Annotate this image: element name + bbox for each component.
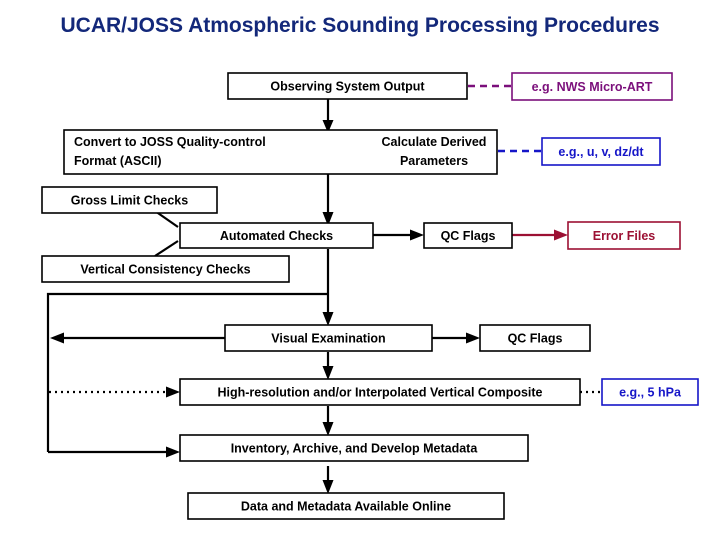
node-label: QC Flags: [508, 332, 563, 346]
arrowhead-rail-to-inventory: [166, 447, 180, 458]
node-label: Automated Checks: [220, 229, 333, 243]
flowchart-svg: Observing System Output Convert to JOSS …: [0, 0, 720, 540]
node-data-metadata-online[interactable]: Data and Metadata Available Online: [188, 493, 504, 519]
node-inventory-archive[interactable]: Inventory, Archive, and Develop Metadata: [180, 435, 528, 461]
node-qc-flags-top[interactable]: QC Flags: [424, 223, 512, 248]
calculate-label-line2: Parameters: [400, 154, 468, 168]
note-label: e.g. NWS Micro-ART: [532, 80, 653, 94]
arrowhead-inventory-to-online: [323, 480, 334, 494]
node-label: QC Flags: [441, 229, 496, 243]
arrowhead-composite-to-inventory: [323, 422, 334, 436]
arrowhead-visual-to-qcflags-mid: [466, 333, 480, 344]
arrowhead-visual-to-composite: [323, 366, 334, 380]
arrowhead-automated-to-qcflags: [410, 230, 424, 241]
node-high-resolution-composite[interactable]: High-resolution and/or Interpolated Vert…: [180, 379, 580, 405]
node-qc-flags-mid[interactable]: QC Flags: [480, 325, 590, 351]
node-visual-examination[interactable]: Visual Examination: [225, 325, 432, 351]
node-gross-limit-checks[interactable]: Gross Limit Checks: [42, 187, 217, 213]
convert-label-line2: Format (ASCII): [74, 154, 162, 168]
node-vertical-consistency-checks[interactable]: Vertical Consistency Checks: [42, 256, 289, 282]
node-label: Observing System Output: [270, 80, 425, 94]
node-label: Visual Examination: [271, 332, 385, 346]
convert-label-line1: Convert to JOSS Quality-control: [74, 135, 266, 149]
note-derived-params[interactable]: e.g., u, v, dz/dt: [542, 138, 660, 165]
note-nws-micro-art[interactable]: e.g. NWS Micro-ART: [512, 73, 672, 100]
calculate-label-line1: Calculate Derived: [382, 135, 487, 149]
node-label: Inventory, Archive, and Develop Metadata: [231, 442, 479, 456]
arrowhead-rail-to-composite: [166, 387, 180, 398]
node-label: Vertical Consistency Checks: [80, 263, 250, 277]
node-automated-checks[interactable]: Automated Checks: [180, 223, 373, 248]
note-label: e.g., 5 hPa: [619, 386, 682, 400]
node-convert-and-calculate[interactable]: Convert to JOSS Quality-control Format (…: [64, 130, 497, 174]
arrowhead-automated-to-visual: [323, 312, 334, 326]
node-error-files[interactable]: Error Files: [568, 222, 680, 249]
note-five-hpa[interactable]: e.g., 5 hPa: [602, 379, 698, 405]
edge-feedback-rail: [48, 294, 328, 452]
edge-vertical-consistency-to-automated: [155, 241, 178, 256]
node-label: Error Files: [593, 229, 656, 243]
arrowhead-qcflags-to-errorfiles: [554, 230, 568, 241]
node-observing-system-output[interactable]: Observing System Output: [228, 73, 467, 99]
note-label: e.g., u, v, dz/dt: [558, 145, 644, 159]
arrowhead-visual-to-rail: [50, 333, 64, 344]
node-label: High-resolution and/or Interpolated Vert…: [217, 386, 542, 400]
node-label: Data and Metadata Available Online: [241, 500, 451, 514]
diagram-canvas: UCAR/JOSS Atmospheric Sounding Processin…: [0, 0, 720, 540]
node-label: Gross Limit Checks: [71, 194, 188, 208]
